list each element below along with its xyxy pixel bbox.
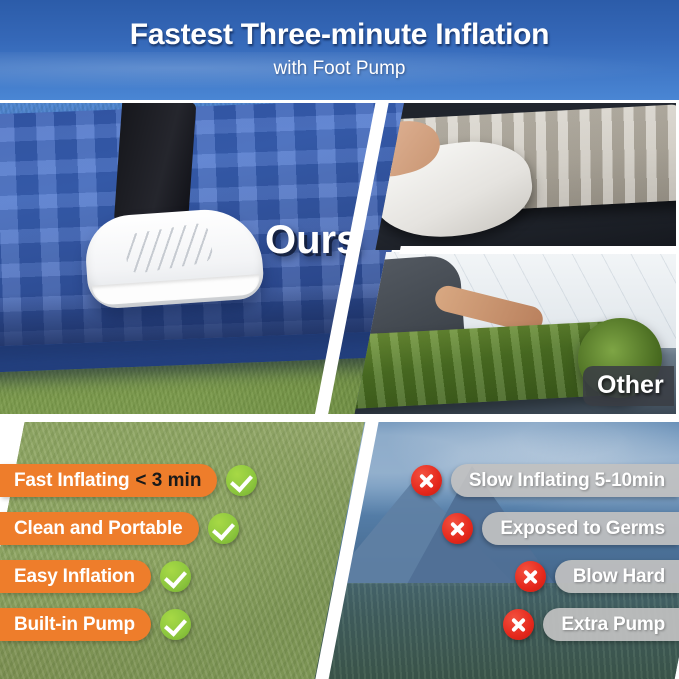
list-item[interactable]: Fast Inflating < 3 min [0,464,257,497]
band-top-edge [0,100,679,103]
con-pill[interactable]: Exposed to Germs [482,512,679,545]
con-pill[interactable]: Blow Hard [555,560,679,593]
check-icon [226,465,257,496]
pro-label: Easy Inflation [14,566,135,588]
pro-pill[interactable]: Fast Inflating < 3 min [0,464,217,497]
cross-icon [515,561,546,592]
page-title: Fastest Three-minute Inflation [0,18,679,52]
pro-pill[interactable]: Clean and Portable [0,512,199,545]
list-item[interactable]: Built-in Pump [0,608,191,641]
photo-other-top [375,100,679,250]
shoe-laces [123,222,214,275]
con-pill[interactable]: Slow Inflating 5-10min [451,464,679,497]
ours-label: Ours [265,218,358,263]
cross-icon [503,609,534,640]
check-icon [160,609,191,640]
horizontal-divider [399,246,679,254]
cross-icon [442,513,473,544]
pro-pill[interactable]: Easy Inflation [0,560,151,593]
pros-list: Fast Inflating < 3 min Clean and Portabl… [0,418,340,679]
con-pill[interactable]: Extra Pump [543,608,679,641]
list-item[interactable]: Extra Pump [503,608,679,641]
white-sneaker [83,206,265,310]
pro-label: Clean and Portable [14,518,183,540]
check-icon [208,513,239,544]
con-label: Blow Hard [573,566,665,588]
other-label: Other [583,366,674,406]
list-item[interactable]: Clean and Portable [0,512,239,545]
pro-label: Built-in Pump [14,614,135,636]
pro-pill[interactable]: Built-in Pump [0,608,151,641]
list-item[interactable]: Exposed to Germs [442,512,679,545]
list-item[interactable]: Easy Inflation [0,560,191,593]
cross-icon [411,465,442,496]
photo-band: Ours [0,100,679,418]
con-label: Exposed to Germs [500,518,665,540]
list-item[interactable]: Slow Inflating 5-10min [411,464,679,497]
cons-list: Slow Inflating 5-10min Exposed to Germs … [339,418,679,679]
con-label: Extra Pump [561,614,665,636]
list-item[interactable]: Blow Hard [515,560,679,593]
pro-label: Fast Inflating [14,470,129,492]
header-banner: Fastest Three-minute Inflation with Foot… [0,0,679,100]
comparison-infographic: Fastest Three-minute Inflation with Foot… [0,0,679,679]
con-label: Slow Inflating 5-10min [469,470,665,492]
check-icon [160,561,191,592]
page-subtitle: with Foot Pump [0,58,679,80]
pro-suffix: < 3 min [135,470,201,492]
